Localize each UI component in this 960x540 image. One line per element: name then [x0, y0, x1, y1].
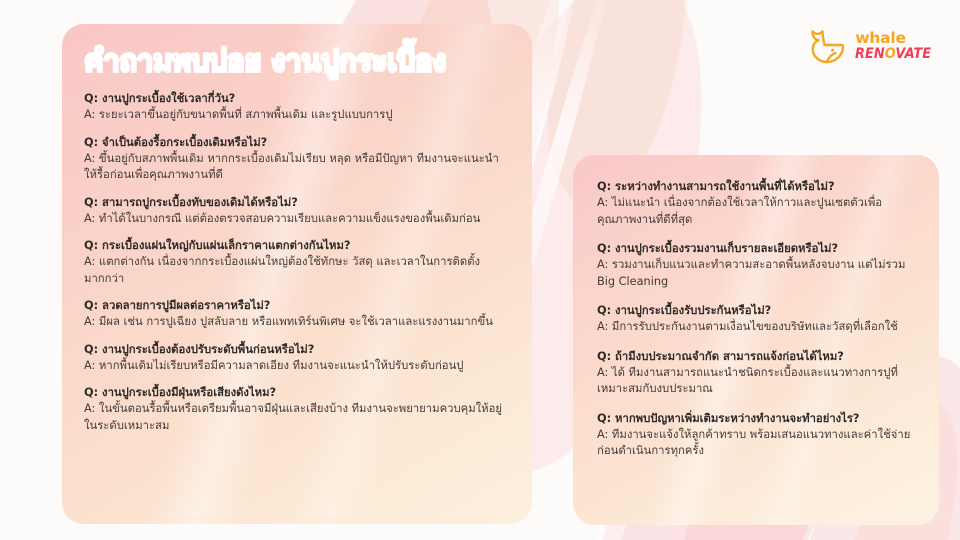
faq-answer: A: หากพื้นเดิมไม่เรียบหรือมีความลาดเอียง…	[84, 358, 510, 374]
faq-item: Q: งานปูกระเบื้องรับประกันหรือไม่?A: มีก…	[597, 303, 915, 336]
faq-item: Q: สามารถปูกระเบื้องทับของเดิมได้หรือไม่…	[84, 195, 510, 228]
faq-item: Q: ลวดลายการปูมีผลต่อราคาหรือไม่?A: มีผล…	[84, 298, 510, 331]
faq-question: Q: งานปูกระเบื้องใช้เวลากี่วัน?	[84, 91, 510, 107]
faq-list-right: Q: ระหว่างทำงานสามารถใช้งานพื้นที่ได้หรื…	[597, 179, 915, 460]
faq-list-left: Q: งานปูกระเบื้องใช้เวลากี่วัน?A: ระยะเว…	[84, 91, 510, 434]
faq-question: Q: หากพบปัญหาเพิ่มเติมระหว่างทำงานจะทำอย…	[597, 411, 915, 427]
renovate-part-1: REN	[855, 46, 885, 62]
faq-answer: A: ได้ ทีมงานสามารถแนะนำชนิดกระเบื้องและ…	[597, 365, 915, 398]
faq-question: Q: ถ้ามีงบประมาณจำกัด สามารถแจ้งก่อนได้ไ…	[597, 349, 915, 365]
faq-item: Q: จำเป็นต้องรื้อกระเบื้องเดิมหรือไม่?A:…	[84, 135, 510, 184]
faq-answer: A: แตกต่างกัน เนื่องจากกระเบื้องแผ่นใหญ่…	[84, 254, 510, 287]
faq-answer: A: ในขั้นตอนรื้อพื้นหรือเตรียมพื้นอาจมีฝ…	[84, 401, 510, 434]
faq-item: Q: กระเบื้องแผ่นใหญ่กับแผ่นเล็กราคาแตกต่…	[84, 238, 510, 287]
renovate-part-2: VATE	[896, 46, 932, 62]
faq-question: Q: ระหว่างทำงานสามารถใช้งานพื้นที่ได้หรื…	[597, 179, 915, 195]
faq-question: Q: งานปูกระเบื้องรวมงานเก็บรายละเอียดหรื…	[597, 241, 915, 257]
faq-infographic: whale RENOVATE คำถามพบบ่อย งานปูกระเบื้อ…	[0, 0, 960, 540]
faq-question: Q: กระเบื้องแผ่นใหญ่กับแผ่นเล็กราคาแตกต่…	[84, 238, 510, 254]
faq-item: Q: หากพบปัญหาเพิ่มเติมระหว่างทำงานจะทำอย…	[597, 411, 915, 460]
faq-question: Q: สามารถปูกระเบื้องทับของเดิมได้หรือไม่…	[84, 195, 510, 211]
faq-question: Q: จำเป็นต้องรื้อกระเบื้องเดิมหรือไม่?	[84, 135, 510, 151]
faq-item: Q: ถ้ามีงบประมาณจำกัด สามารถแจ้งก่อนได้ไ…	[597, 349, 915, 398]
faq-answer: A: ระยะเวลาขึ้นอยู่กับขนาดพื้นที่ สภาพพื…	[84, 107, 510, 123]
faq-item: Q: งานปูกระเบื้องรวมงานเก็บรายละเอียดหรื…	[597, 241, 915, 290]
faq-question: Q: ลวดลายการปูมีผลต่อราคาหรือไม่?	[84, 298, 510, 314]
faq-item: Q: ระหว่างทำงานสามารถใช้งานพื้นที่ได้หรื…	[597, 179, 915, 228]
faq-item: Q: งานปูกระเบื้องใช้เวลากี่วัน?A: ระยะเว…	[84, 91, 510, 124]
renovate-accent-o: O	[885, 46, 896, 62]
brand-name-whale: whale	[855, 31, 938, 47]
faq-answer: A: รวมงานเก็บแนวและทำความสะอาดพื้นหลังจบ…	[597, 257, 915, 290]
faq-question: Q: งานปูกระเบื้องมีฝุ่นหรือเสียงดังไหม?	[84, 385, 510, 401]
faq-question: Q: งานปูกระเบื้องต้องปรับระดับพื้นก่อนหร…	[84, 342, 510, 358]
faq-card-right: Q: ระหว่างทำงานสามารถใช้งานพื้นที่ได้หรื…	[573, 155, 939, 525]
faq-question: Q: งานปูกระเบื้องรับประกันหรือไม่?	[597, 303, 915, 319]
page-title: คำถามพบบ่อย งานปูกระเบื้อง	[84, 44, 510, 77]
faq-answer: A: ทีมงานจะแจ้งให้ลูกค้าทราบ พร้อมเสนอแน…	[597, 427, 915, 460]
faq-answer: A: มีการรับประกันงานตามเงื่อนไขของบริษัท…	[597, 319, 915, 335]
whale-icon	[802, 26, 848, 66]
faq-answer: A: มีผล เช่น การปูเฉียง ปูสลับลาย หรือแพ…	[84, 314, 510, 330]
faq-item: Q: งานปูกระเบื้องมีฝุ่นหรือเสียงดังไหม?A…	[84, 385, 510, 434]
faq-answer: A: ทำได้ในบางกรณี แต่ต้องตรวจสอบความเรีย…	[84, 211, 510, 227]
faq-answer: A: ขึ้นอยู่กับสภาพพื้นเดิม หากกระเบื้องเ…	[84, 151, 510, 184]
faq-item: Q: งานปูกระเบื้องต้องปรับระดับพื้นก่อนหร…	[84, 342, 510, 375]
faq-card-left: คำถามพบบ่อย งานปูกระเบื้อง Q: งานปูกระเบ…	[62, 24, 532, 524]
brand-wordmark: whale RENOVATE	[855, 31, 938, 62]
brand-logo: whale RENOVATE	[802, 26, 938, 66]
brand-name-renovate: RENOVATE	[855, 47, 931, 61]
faq-answer: A: ไม่แนะนำ เนื่องจากต้องใช้เวลาให้กาวแล…	[597, 195, 915, 228]
